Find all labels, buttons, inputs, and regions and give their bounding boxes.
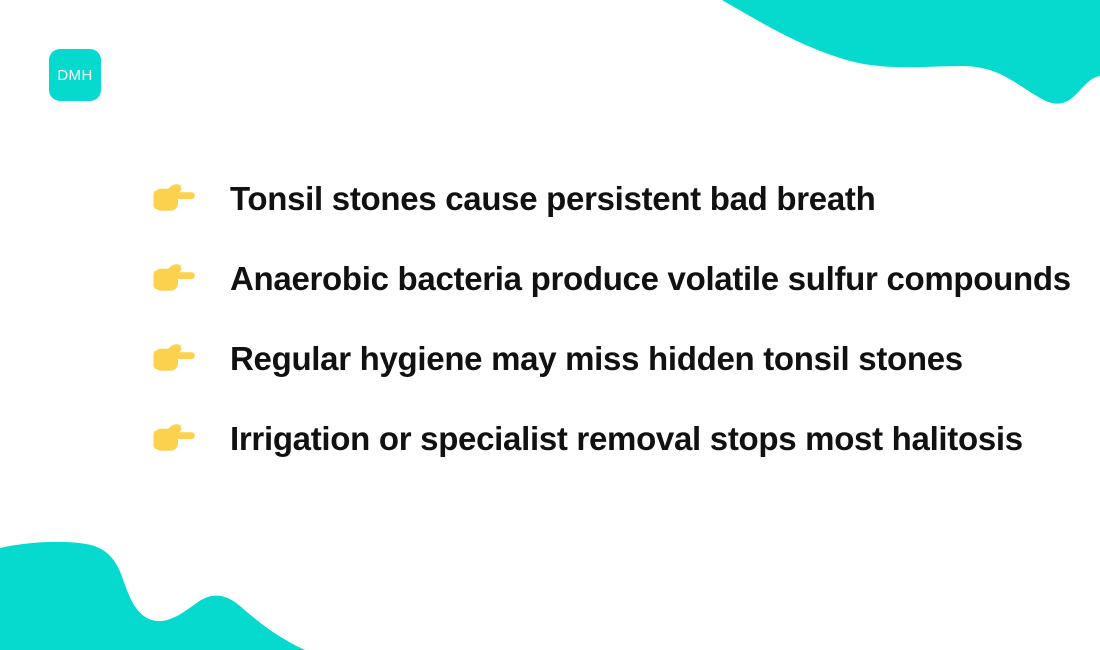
- list-item: Irrigation or specialist removal stops m…: [150, 398, 1100, 478]
- list-item-label: Irrigation or specialist removal stops m…: [230, 422, 1023, 455]
- pointing-right-hand-icon: [150, 341, 230, 375]
- list-item-label: Regular hygiene may miss hidden tonsil s…: [230, 342, 963, 375]
- teal-wave-bottom-left: [0, 520, 320, 650]
- list-item-label: Tonsil stones cause persistent bad breat…: [230, 182, 875, 215]
- bullet-list: Tonsil stones cause persistent bad breat…: [150, 158, 1100, 478]
- teal-wave-top-right: [700, 0, 1100, 140]
- dmh-logo-badge[interactable]: DMH: [49, 49, 101, 101]
- list-item-label: Anaerobic bacteria produce volatile sulf…: [230, 262, 1071, 295]
- slide-canvas: DMH Tonsil stones cause persistent bad b…: [0, 0, 1100, 650]
- logo-text: DMH: [57, 67, 92, 84]
- list-item: Anaerobic bacteria produce volatile sulf…: [150, 238, 1100, 318]
- list-item: Regular hygiene may miss hidden tonsil s…: [150, 318, 1100, 398]
- pointing-right-hand-icon: [150, 261, 230, 295]
- pointing-right-hand-icon: [150, 421, 230, 455]
- list-item: Tonsil stones cause persistent bad breat…: [150, 158, 1100, 238]
- pointing-right-hand-icon: [150, 181, 230, 215]
